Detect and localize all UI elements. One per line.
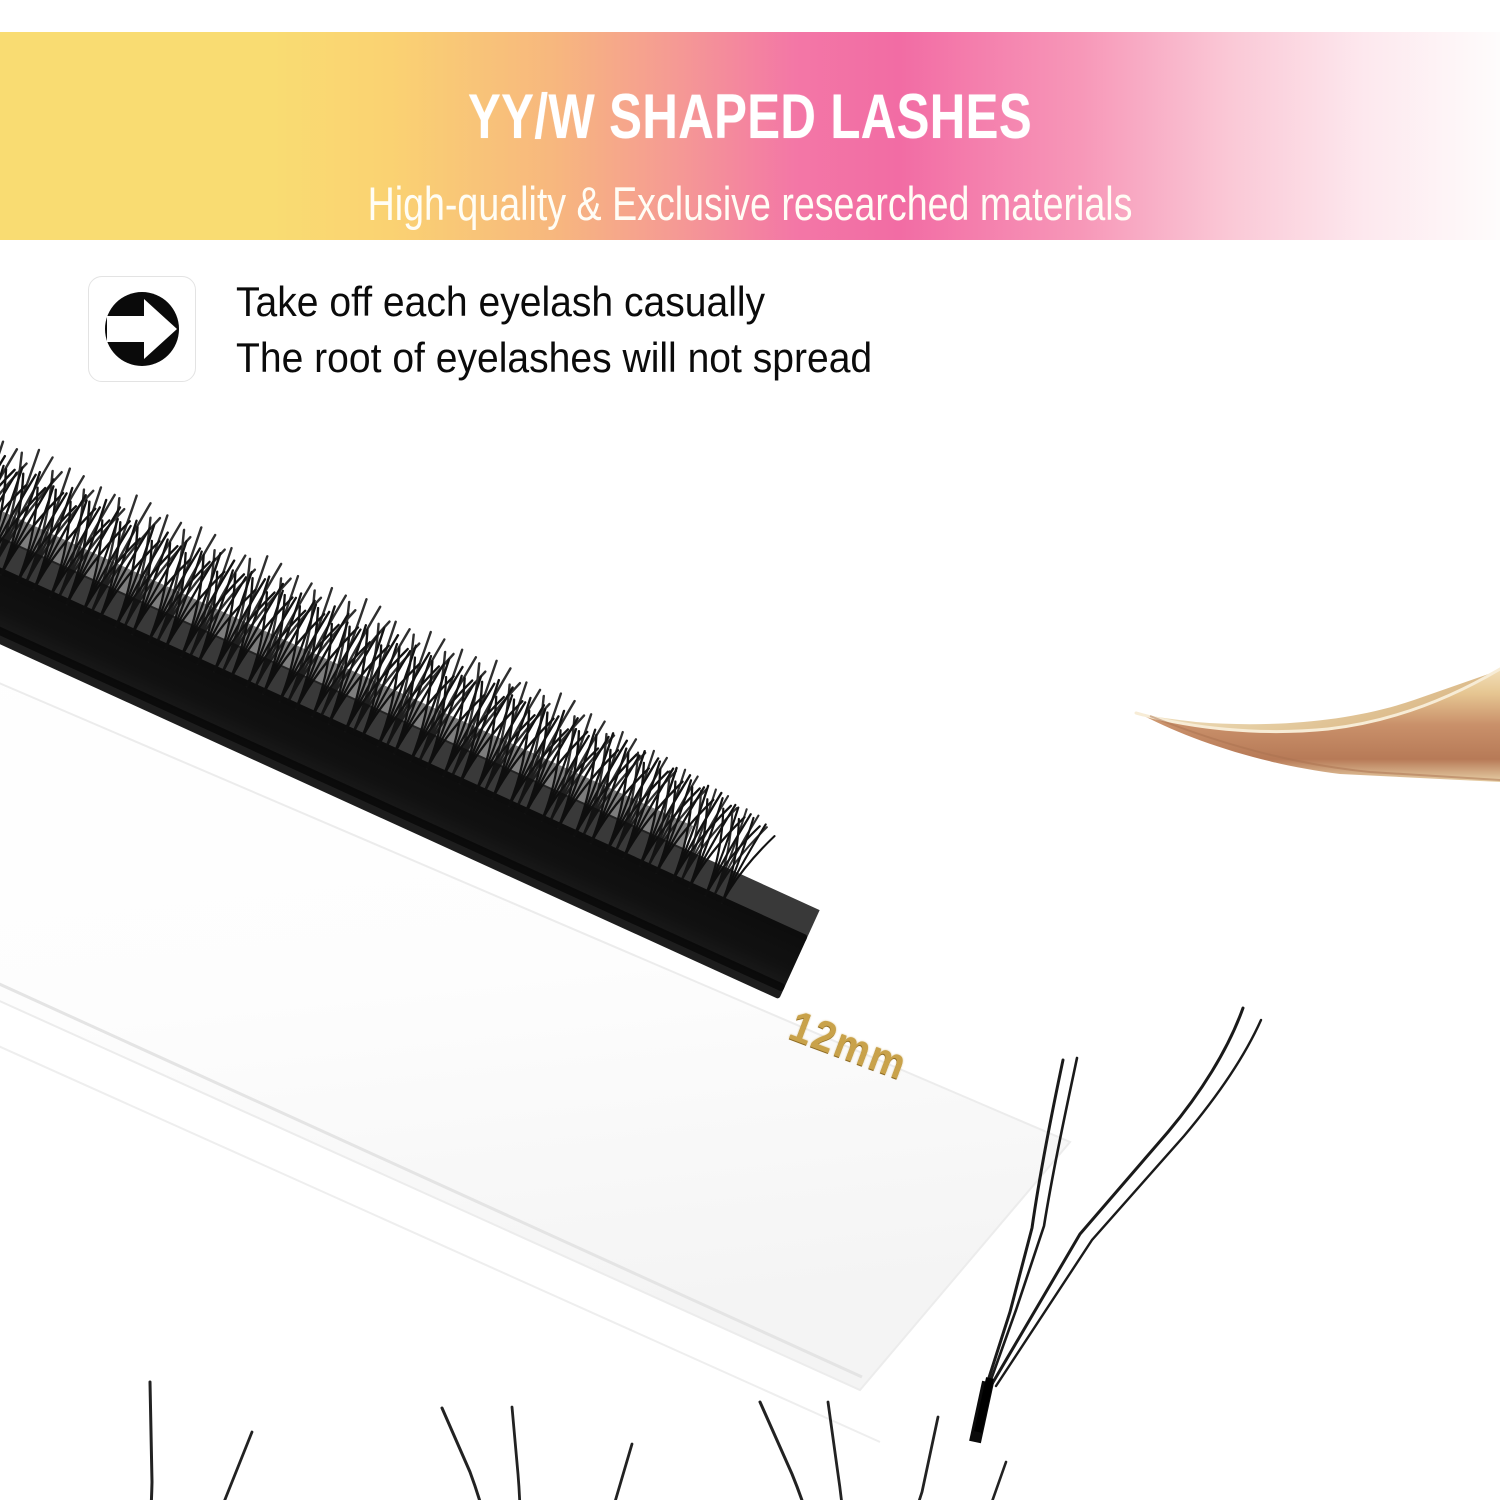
arrow-right-circle-icon bbox=[89, 277, 195, 381]
product-photo bbox=[0, 382, 1500, 1500]
instruction-text-block: Take off each eyelash casually The root … bbox=[236, 274, 1186, 386]
fan-sample-2 bbox=[442, 1407, 712, 1500]
tweezer bbox=[1136, 668, 1500, 782]
page-title: YY/W SHAPED LASHES bbox=[165, 86, 1335, 149]
instruction-line-2: The root of eyelashes will not spread bbox=[236, 330, 1120, 386]
instruction-row: Take off each eyelash casually The root … bbox=[88, 276, 1188, 388]
fan-sample-1 bbox=[88, 1382, 338, 1500]
fan-sample-3 bbox=[760, 1402, 1088, 1500]
page-subtitle: High-quality & Exclusive researched mate… bbox=[150, 180, 1350, 227]
header-banner: YY/W SHAPED LASHES High-quality & Exclus… bbox=[0, 32, 1500, 240]
arrow-badge bbox=[88, 276, 196, 382]
picked-lash-fan bbox=[975, 1008, 1261, 1442]
instruction-line-1: Take off each eyelash casually bbox=[236, 274, 1120, 330]
product-photo-svg bbox=[0, 382, 1500, 1500]
